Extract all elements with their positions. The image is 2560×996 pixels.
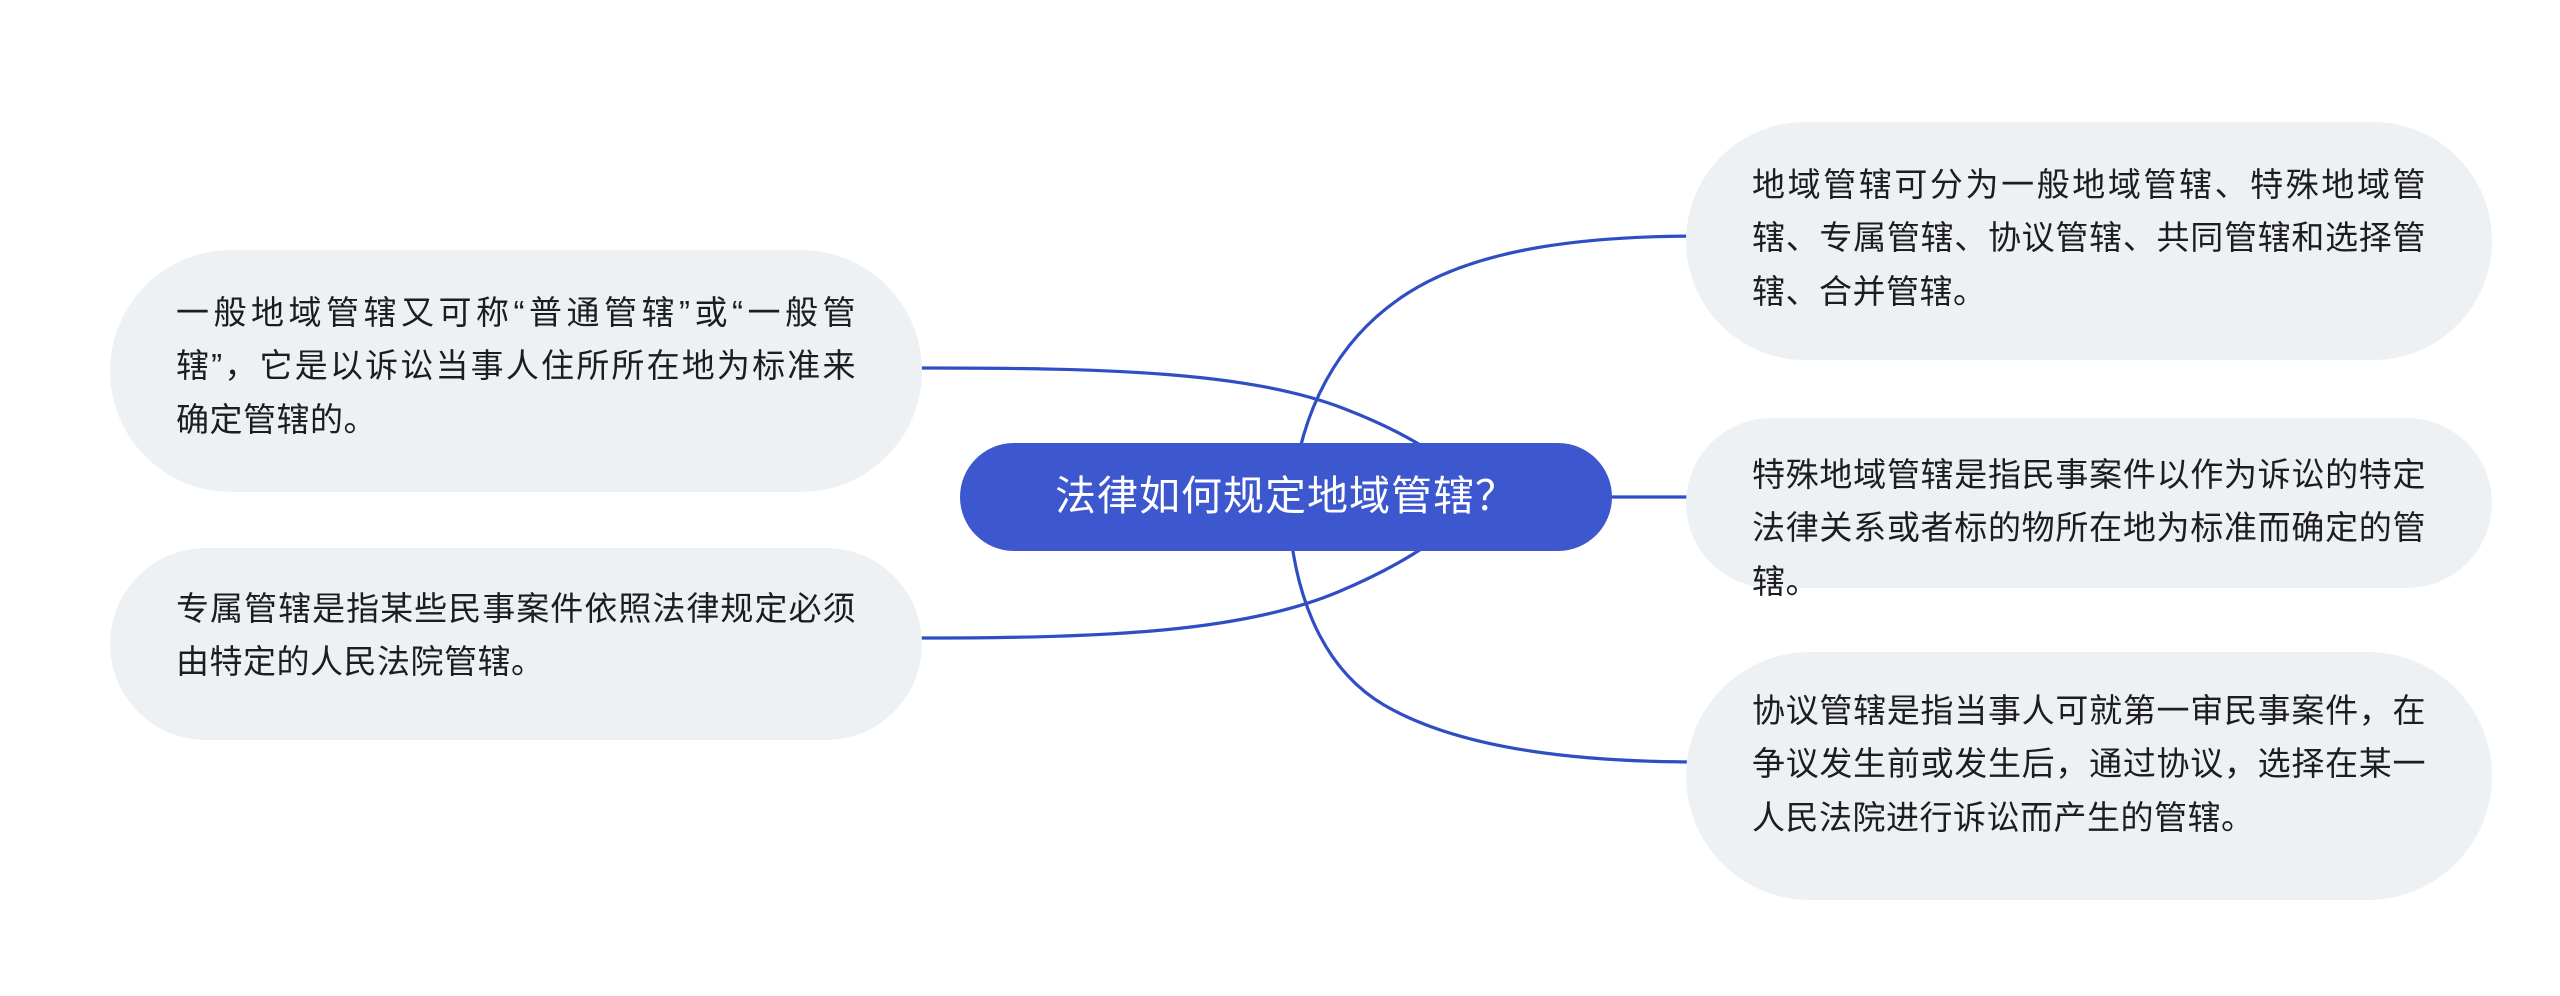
branch-node-general[interactable]: 一般地域管辖又可称“普通管辖”或“一般管辖”，它是以诉讼当事人住所所在地为标准来…: [110, 250, 922, 492]
branch-node-exclusive[interactable]: 专属管辖是指某些民事案件依照法律规定必须由特定的人民法院管辖。: [110, 548, 922, 740]
branch-node-division-text: 地域管辖可分为一般地域管辖、特殊地域管辖、专属管辖、协议管辖、共同管辖和选择管辖…: [1752, 158, 2426, 318]
branch-node-agreement[interactable]: 协议管辖是指当事人可就第一审民事案件，在争议发生前或发生后，通过协议，选择在某一…: [1686, 652, 2492, 900]
root-node[interactable]: 法律如何规定地域管辖？: [960, 443, 1612, 551]
root-node-label: 法律如何规定地域管辖？: [1055, 474, 1517, 519]
branch-node-special-text: 特殊地域管辖是指民事案件以作为诉讼的特定法律关系或者标的物所在地为标准而确定的管…: [1752, 448, 2426, 608]
branch-node-agreement-text: 协议管辖是指当事人可就第一审民事案件，在争议发生前或发生后，通过协议，选择在某一…: [1752, 684, 2426, 844]
branch-node-exclusive-text: 专属管辖是指某些民事案件依照法律规定必须由特定的人民法院管辖。: [176, 582, 856, 689]
branch-node-general-text: 一般地域管辖又可称“普通管辖”或“一般管辖”，它是以诉讼当事人住所所在地为标准来…: [176, 286, 856, 446]
mindmap-canvas: 法律如何规定地域管辖？ 一般地域管辖又可称“普通管辖”或“一般管辖”，它是以诉讼…: [0, 0, 2560, 996]
branch-node-special[interactable]: 特殊地域管辖是指民事案件以作为诉讼的特定法律关系或者标的物所在地为标准而确定的管…: [1686, 418, 2492, 588]
branch-node-division[interactable]: 地域管辖可分为一般地域管辖、特殊地域管辖、专属管辖、协议管辖、共同管辖和选择管辖…: [1686, 122, 2492, 360]
